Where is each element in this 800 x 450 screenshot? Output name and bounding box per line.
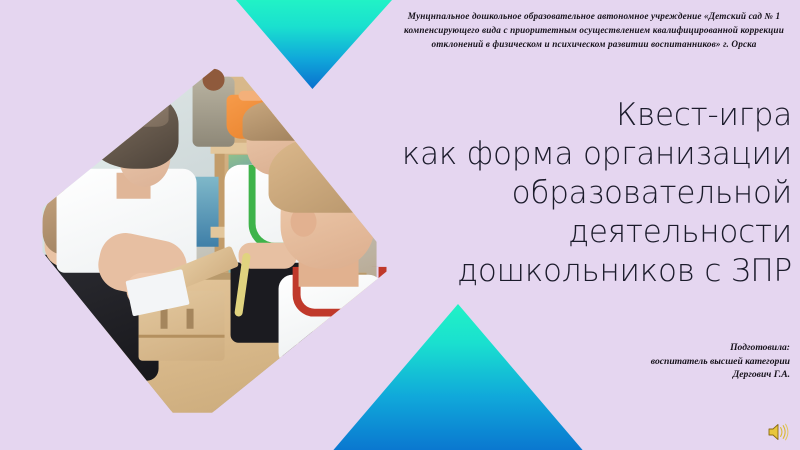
title-line-2: как форма организации [330, 135, 792, 174]
presentation-slide: Мунцнпальное дошкольное образовательное … [0, 0, 800, 450]
decorative-triangle-top [236, 0, 392, 89]
title-line-5: дошкольников с ЗПР [330, 252, 792, 291]
photo-pouch-tie [239, 91, 265, 101]
photo-doll-head [203, 69, 225, 91]
author-name: Дергович Г.А. [500, 368, 790, 382]
photo-teacher-hair [83, 91, 179, 169]
organization-line-1: Мунцнпальное дошкольное образовательное … [408, 11, 702, 21]
photo-model-seam [139, 335, 225, 338]
photo-content [43, 77, 377, 411]
author-credit: Подготовила: воспитатель высшей категори… [500, 341, 790, 382]
triangle-gradient-top [236, 0, 392, 89]
title-line-1: Квест-игра [330, 96, 792, 135]
photo-child-middle-hair [243, 101, 307, 141]
author-role: воспитатель высшей категории [500, 355, 790, 369]
photo-teacher-hair-top [95, 85, 169, 127]
organization-header: Мунцнпальное дошкольное образовательное … [398, 9, 790, 51]
organization-line-4: развитии воспитанников» г. Орска [608, 39, 756, 49]
slide-title: Квест-игра как форма организации образов… [330, 96, 792, 291]
photo-model-slot-right [187, 309, 194, 329]
author-label: Подготовила: [500, 341, 790, 355]
title-line-4: деятельности [330, 213, 792, 252]
title-line-3: образовательной [330, 174, 792, 213]
speaker-icon[interactable] [766, 421, 790, 443]
photo-model-slot-left [161, 309, 168, 329]
